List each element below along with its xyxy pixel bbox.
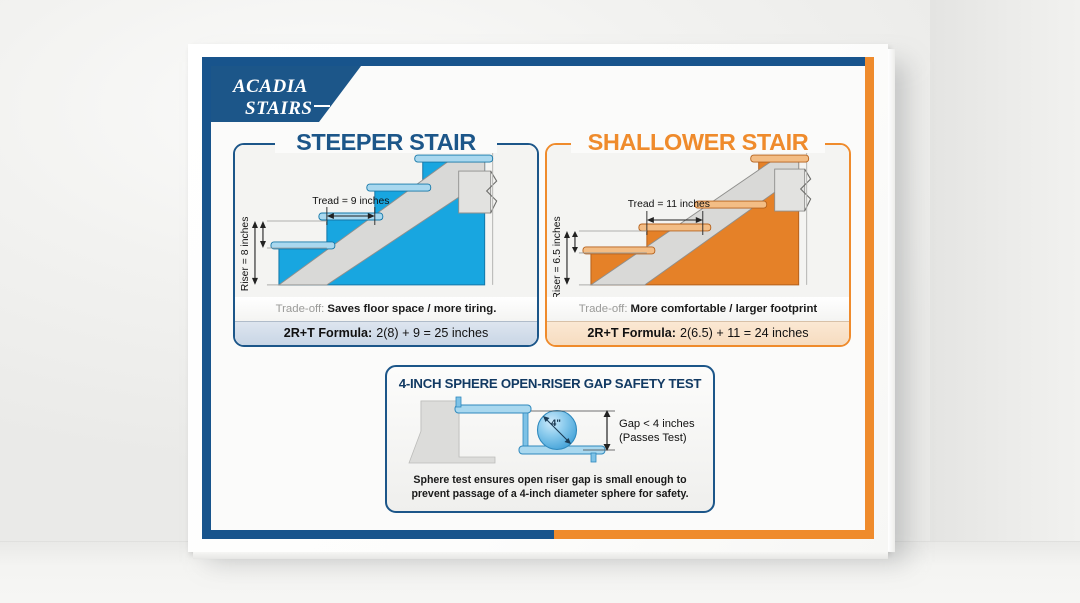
poster-edge-bottom (193, 552, 888, 559)
poster-board: ACADIA STAIRS STEEPER STAIR (188, 44, 888, 552)
panel-sphere-border: 4-INCH SPHERE OPEN-RISER GAP SAFETY TEST (385, 365, 715, 513)
brand-name-line-1: ACADIA (233, 77, 330, 96)
panel-sphere-safety-test: 4-INCH SPHERE OPEN-RISER GAP SAFETY TEST (385, 365, 715, 513)
frame-border-right (865, 57, 874, 539)
frame-border-bottom-orange (554, 530, 874, 539)
steeper-tradeoff-row: Trade-off: Saves floor space / more tiri… (235, 297, 537, 321)
infographic-artwork: ACADIA STAIRS STEEPER STAIR (202, 57, 874, 539)
frame-border-top (202, 57, 874, 66)
sphere-gap-line-2: (Passes Test) (619, 432, 687, 444)
frame-border-bottom-blue (202, 530, 554, 539)
panel-steeper-stair: STEEPER STAIR (233, 129, 539, 347)
shallower-tradeoff-row: Trade-off: More comfortable / larger foo… (547, 297, 849, 321)
steeper-tradeoff-label: Trade-off: (276, 303, 325, 315)
panel-shallower-stair: SHALLOWER STAIR (545, 129, 851, 347)
shallower-formula-value: 2(6.5) + 11 = 24 inches (680, 326, 809, 340)
steeper-formula-value: 2(8) + 9 = 25 inches (376, 326, 488, 340)
backdrop-right-wall (930, 0, 1080, 560)
sphere-panel-title: 4-INCH SPHERE OPEN-RISER GAP SAFETY TEST (387, 376, 713, 391)
sphere-caption-line-1: Sphere test ensures open riser gap is sm… (387, 474, 713, 488)
shallower-tradeoff-value: More comfortable / larger footprint (631, 303, 818, 315)
steeper-formula-bar: 2R+T Formula: 2(8) + 9 = 25 inches (235, 321, 537, 345)
shallower-stair-diagram: Tread = 11 inches Riser = 6.5 inche (547, 145, 849, 297)
steeper-formula-label: 2R+T Formula: (284, 326, 373, 340)
panel-steeper-title: STEEPER STAIR (233, 129, 539, 156)
steeper-riser-label: Riser = 8 inches (240, 217, 251, 292)
panels-stage: STEEPER STAIR (211, 66, 865, 530)
panel-shallower-title: SHALLOWER STAIR (545, 129, 851, 156)
shallower-formula-bar: 2R+T Formula: 2(6.5) + 11 = 24 inches (547, 321, 849, 345)
shallower-tread-label: Tread = 11 inches (628, 199, 710, 210)
sphere-panel-caption: Sphere test ensures open riser gap is sm… (387, 474, 713, 502)
shallower-formula-label: 2R+T Formula: (587, 326, 676, 340)
brand-name-line-2: STAIRS (245, 99, 330, 118)
brand-logo-text: ACADIA STAIRS (233, 77, 330, 118)
poster-edge-right (888, 49, 895, 552)
steeper-tradeoff-value: Saves floor space / more tiring. (327, 303, 496, 315)
sphere-test-diagram: 4" Gap < 4 inches (Passes Test) (387, 393, 713, 466)
frame-border-left (202, 57, 211, 539)
sphere-diameter-label: 4" (551, 418, 561, 429)
steeper-stair-diagram: Tread = 9 inches (235, 145, 537, 297)
shallower-riser-label: Riser = 6.5 inches (552, 216, 563, 297)
sphere-gap-line-1: Gap < 4 inches (619, 418, 695, 430)
sphere-caption-line-2: prevent passage of a 4-inch diameter sph… (387, 488, 713, 502)
panel-steeper-content: Tread = 9 inches (235, 145, 537, 345)
steeper-tread-label: Tread = 9 inches (312, 196, 389, 207)
shallower-tradeoff-label: Trade-off: (579, 303, 628, 315)
panel-shallower-content: Tread = 11 inches Riser = 6.5 inche (547, 145, 849, 345)
